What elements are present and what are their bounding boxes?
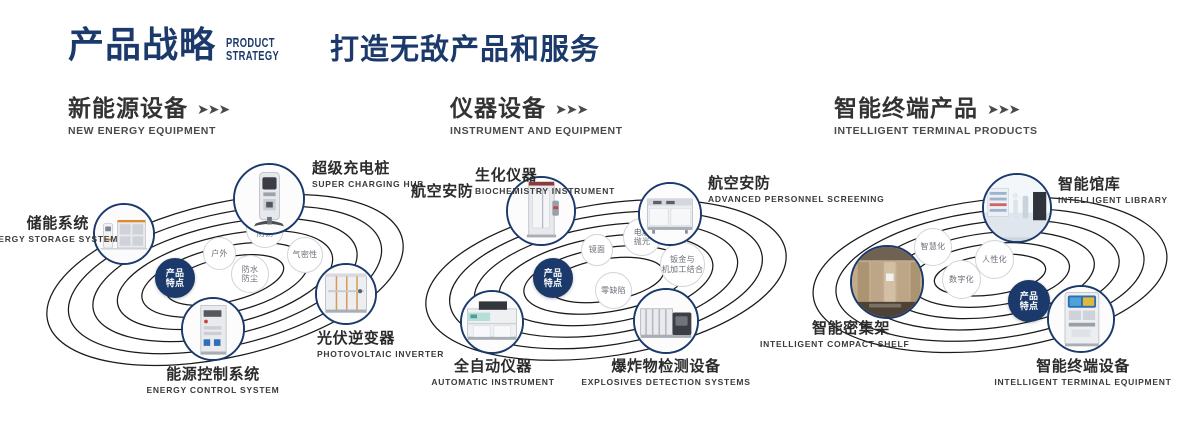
section-title-cn: 智能终端产品 bbox=[834, 96, 978, 121]
cluster-intelligent-terminal-products: 产品 特点 智慧化 数字化 人性化 bbox=[810, 180, 1190, 370]
page-subtitle: 打造无敌产品和服务 bbox=[330, 34, 600, 66]
feature-bubble-sheetmetal-machining: 钣金与 机加工结合 bbox=[660, 242, 705, 287]
feature-core-bubble: 产品 特点 bbox=[155, 258, 195, 298]
section-title-cn: 仪器设备 bbox=[450, 96, 546, 121]
page-title-en-line2: STRATEGY bbox=[226, 49, 279, 62]
product-node-energy-control-system[interactable] bbox=[181, 297, 245, 361]
caption-cn: 能源控制系统 bbox=[90, 366, 336, 383]
caption-en: INTELLIGENT LIBRARY bbox=[1058, 195, 1188, 206]
caption-cn: 爆炸物检测设备 bbox=[581, 358, 751, 375]
section-title-cn: 新能源设备 bbox=[68, 96, 188, 121]
product-node-intelligent-terminal-equipment[interactable] bbox=[1047, 285, 1115, 353]
feature-core-bubble: 产品 特点 bbox=[533, 258, 573, 298]
caption-energy-control-system: 能源控制系统 ENERGY CONTROL SYSTEM bbox=[90, 366, 336, 396]
intelligent-compact-shelf-photo bbox=[852, 247, 922, 317]
energy-control-system-photo bbox=[183, 299, 243, 359]
product-node-automatic-instrument[interactable] bbox=[460, 290, 524, 354]
cluster-instrument-and-equipment: 产品 特点 镜面 电解 抛光 钣金与 机加工结合 零缺陷 bbox=[418, 180, 798, 370]
automatic-instrument-photo bbox=[462, 292, 522, 352]
advanced-personnel-screening-photo bbox=[640, 184, 700, 244]
caption-cn: 超级充电桩 bbox=[312, 160, 432, 177]
caption-automatic-instrument: 全自动仪器 AUTOMATIC INSTRUMENT bbox=[413, 358, 573, 388]
feature-bubble-zero-defect: 零缺陷 bbox=[595, 272, 632, 309]
caption-intelligent-terminal-equipment: 智能终端设备 INTELLIGENT TERMINAL EQUIPMENT bbox=[993, 358, 1173, 388]
product-node-intelligent-library[interactable] bbox=[982, 173, 1052, 243]
intelligent-terminal-equipment-photo bbox=[1049, 287, 1113, 351]
product-node-advanced-personnel-screening[interactable] bbox=[638, 182, 702, 246]
caption-en: INTELLIGENT COMPACT SHELF bbox=[760, 339, 890, 350]
page-title: 产品战略 PRODUCT STRATEGY bbox=[68, 26, 300, 64]
chevron-right-icon: ➤➤➤ bbox=[555, 102, 587, 116]
caption-en: ENERGY CONTROL SYSTEM bbox=[90, 385, 336, 396]
section-header-instrument: 仪器设备 ➤➤➤ INSTRUMENT AND EQUIPMENT bbox=[450, 96, 623, 137]
section-header-intelligent-terminal: 智能终端产品 ➤➤➤ INTELLIGENT TERMINAL PRODUCTS bbox=[834, 96, 1038, 137]
caption-explosives-detection-systems: 爆炸物检测设备 EXPLOSIVES DETECTION SYSTEMS bbox=[581, 358, 751, 388]
cluster-new-energy-equipment: 产品 特点 户外 防腐 防锈 防水 防尘 气密性 bbox=[40, 180, 420, 370]
page-title-en: PRODUCT STRATEGY bbox=[226, 36, 279, 62]
product-node-super-charging-hub[interactable] bbox=[233, 163, 305, 235]
section-header-new-energy: 新能源设备 ➤➤➤ NEW ENERGY EQUIPMENT bbox=[68, 96, 229, 137]
page-title-cn: 产品战略 bbox=[68, 26, 216, 64]
section-title-en: INSTRUMENT AND EQUIPMENT bbox=[450, 126, 623, 137]
feature-bubble-humanized: 人性化 bbox=[975, 240, 1014, 279]
caption-en: AUTOMATIC INSTRUMENT bbox=[413, 377, 573, 388]
caption-cn: 全自动仪器 bbox=[413, 358, 573, 375]
super-charging-hub-photo bbox=[235, 165, 303, 233]
feature-bubble-waterproof: 防水 防尘 bbox=[231, 255, 269, 293]
caption-en: ENERGY STORAGE SYSTEM bbox=[0, 234, 89, 245]
caption-cn: 智能终端设备 bbox=[993, 358, 1173, 375]
caption-en: INTELLIGENT TERMINAL EQUIPMENT bbox=[993, 377, 1173, 388]
photovoltaic-inverter-photo bbox=[317, 265, 375, 323]
caption-biochemistry-instrument: 生化仪器 BIOCHEMISTRY INSTRUMENT bbox=[475, 167, 561, 197]
caption-cn: 储能系统 bbox=[0, 215, 89, 232]
product-node-photovoltaic-inverter[interactable] bbox=[315, 263, 377, 325]
explosives-detection-systems-photo bbox=[635, 290, 697, 352]
feature-bubble-mirror-finish: 镜面 bbox=[581, 234, 613, 266]
caption-cn: 智能馆库 bbox=[1058, 176, 1188, 193]
caption-energy-storage-system: 储能系统 ENERGY STORAGE SYSTEM bbox=[0, 215, 89, 245]
chevron-right-icon: ➤➤➤ bbox=[987, 102, 1019, 116]
caption-cn: 生化仪器 bbox=[475, 167, 561, 184]
product-node-explosives-detection-systems[interactable] bbox=[633, 288, 699, 354]
caption-en: EXPLOSIVES DETECTION SYSTEMS bbox=[581, 377, 751, 388]
feature-bubble-outdoor: 户外 bbox=[203, 237, 236, 270]
caption-intelligent-library: 智能馆库 INTELLIGENT LIBRARY bbox=[1058, 176, 1188, 206]
feature-core-bubble: 产品 特点 bbox=[1008, 280, 1050, 322]
caption-intelligent-compact-shelf: 智能密集架 INTELLIGENT COMPACT SHELF bbox=[760, 320, 890, 350]
section-title-en: INTELLIGENT TERMINAL PRODUCTS bbox=[834, 126, 1038, 137]
chevron-right-icon: ➤➤➤ bbox=[197, 102, 229, 116]
intelligent-library-photo bbox=[984, 175, 1050, 241]
poster-canvas: 产品战略 PRODUCT STRATEGY 打造无敌产品和服务 新能源设备 ➤➤… bbox=[0, 0, 1200, 422]
product-node-intelligent-compact-shelf[interactable] bbox=[850, 245, 924, 319]
caption-cn: 智能密集架 bbox=[760, 320, 890, 337]
caption-en: BIOCHEMISTRY INSTRUMENT bbox=[475, 186, 561, 197]
section-title-en: NEW ENERGY EQUIPMENT bbox=[68, 126, 229, 137]
